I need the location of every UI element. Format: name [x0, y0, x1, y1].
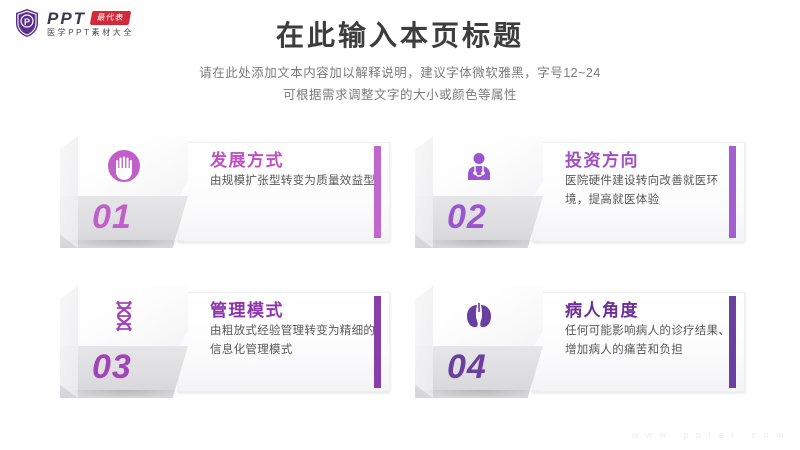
- card-03-shadow: [66, 390, 186, 398]
- card-01-accent-bar: [374, 146, 381, 238]
- page-title: 在此输入本页标题: [0, 14, 800, 54]
- kidneys-icon: [459, 296, 499, 336]
- card-02-shadow: [421, 240, 541, 248]
- card-03-number: 03: [92, 350, 188, 384]
- card-01-body: 由规模扩张型转变为质量效益型: [210, 172, 380, 191]
- subtitle-line-2: 可根据需求调整文字的大小或颜色等属性: [0, 84, 800, 106]
- doctor-icon: [459, 146, 499, 186]
- card-01[interactable]: 01 发展方式 由规模扩张型转变为质量效益型: [60, 136, 390, 248]
- card-04-title: 病人角度: [565, 296, 639, 321]
- card-01-number: 01: [92, 200, 188, 234]
- footer-watermark: w w w . p p t e r . c o m: [631, 430, 786, 440]
- card-04[interactable]: 04 病人角度 任何可能影响病人的诊疗结果、增加病人的痛苦和负担: [415, 286, 745, 398]
- card-01-shadow: [66, 240, 186, 248]
- card-02-number: 02: [447, 200, 543, 234]
- card-01-title: 发展方式: [210, 146, 284, 171]
- card-04-body: 任何可能影响病人的诊疗结果、增加病人的痛苦和负担: [565, 322, 735, 360]
- dna-icon: [104, 296, 144, 336]
- card-02-body: 医院硬件建设转向改善就医环境，提高就医体验: [565, 172, 735, 210]
- card-03[interactable]: 03 管理模式 由粗放式经验管理转变为精细的信息化管理模式: [60, 286, 390, 398]
- card-02-title: 投资方向: [565, 146, 639, 171]
- page-subtitle: 请在此处添加文本内容加以解释说明，建议字体微软雅黑，字号12~24 可根据需求调…: [0, 62, 800, 106]
- hand-circle-icon: [104, 146, 144, 186]
- card-04-shadow: [421, 390, 541, 398]
- card-03-body: 由粗放式经验管理转变为精细的信息化管理模式: [210, 322, 380, 360]
- subtitle-line-1: 请在此处添加文本内容加以解释说明，建议字体微软雅黑，字号12~24: [0, 62, 800, 84]
- card-04-number: 04: [447, 350, 543, 384]
- card-02[interactable]: 02 投资方向 医院硬件建设转向改善就医环境，提高就医体验: [415, 136, 745, 248]
- card-03-title: 管理模式: [210, 296, 284, 321]
